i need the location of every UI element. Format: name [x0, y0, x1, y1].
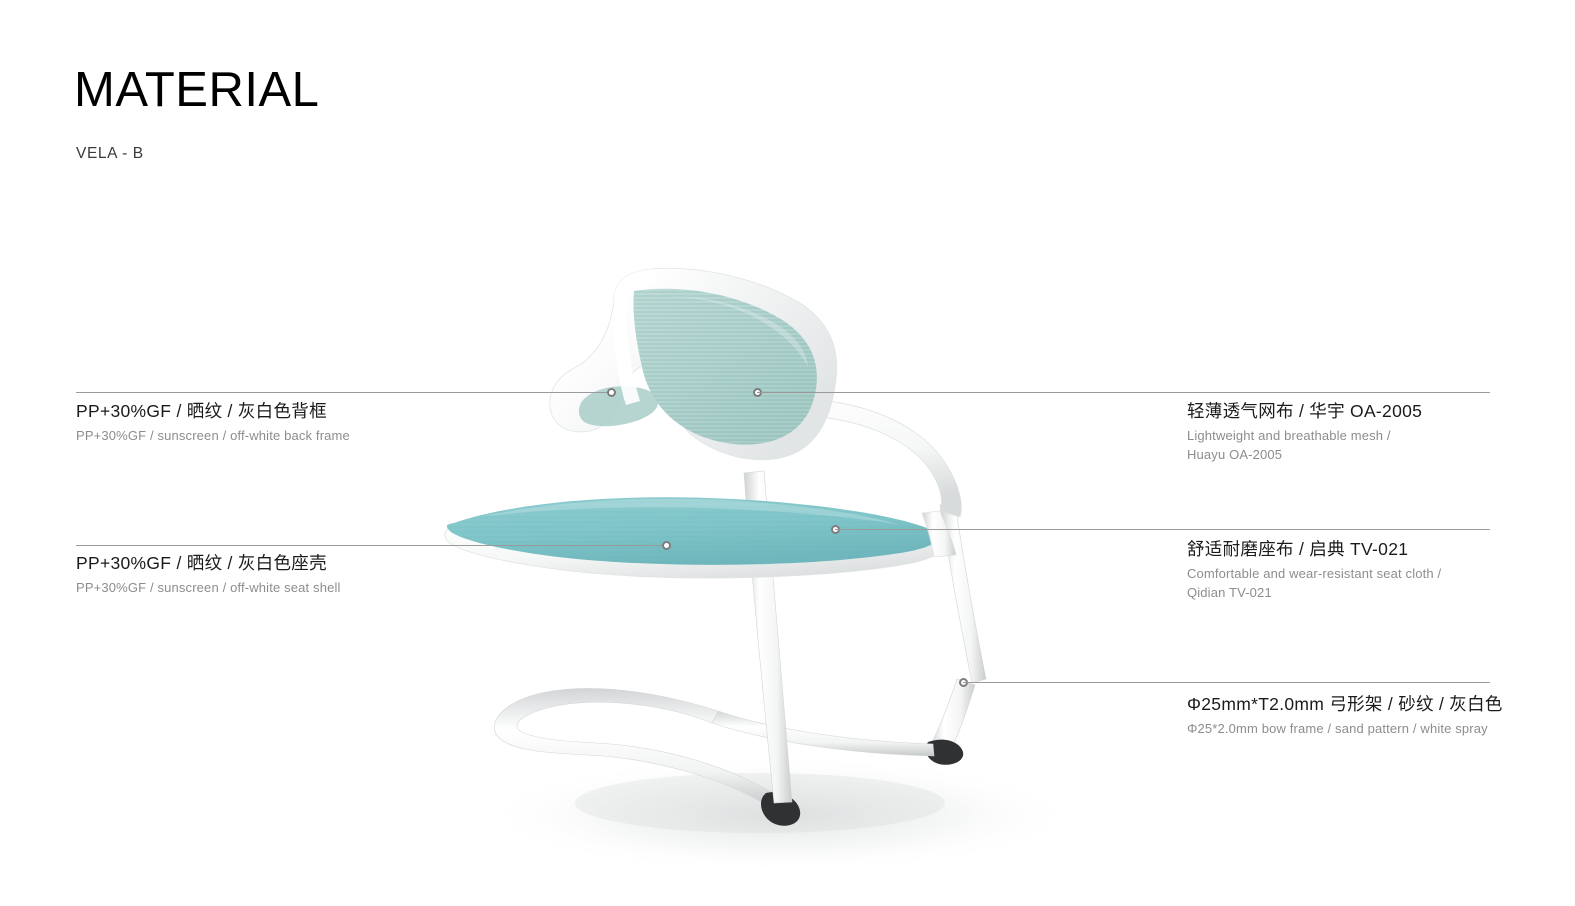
callout-back-frame-en: PP+30%GF / sunscreen / off-white back fr…	[76, 427, 350, 446]
base-cross-runner	[712, 711, 934, 756]
material-spec-page: MATERIAL VELA - B	[0, 0, 1575, 906]
callout-back-frame: PP+30%GF / 晒纹 / 灰白色背框 PP+30%GF / sunscre…	[76, 401, 350, 446]
callout-seat-cloth: 舒适耐磨座布 / 启典 TV-021 Comfortable and wear-…	[1187, 539, 1441, 603]
chair-illustration	[400, 255, 1160, 875]
leader-line-seat-cloth	[835, 529, 1490, 530]
leader-line-back-frame	[76, 392, 611, 393]
leader-dot-back-frame	[607, 388, 616, 397]
callout-bow-frame: Φ25mm*T2.0mm 弓形架 / 砂纹 / 灰白色 Φ25*2.0mm bo…	[1187, 694, 1503, 739]
leader-line-bow-frame	[963, 682, 1490, 683]
callout-seat-shell-cn: PP+30%GF / 晒纹 / 灰白色座壳	[76, 553, 341, 575]
page-subtitle: VELA - B	[76, 146, 144, 162]
callout-mesh-cn: 轻薄透气网布 / 华宇 OA-2005	[1187, 401, 1422, 423]
callout-bow-frame-cn: Φ25mm*T2.0mm 弓形架 / 砂纹 / 灰白色	[1187, 694, 1503, 716]
callout-seat-cloth-en-line-2: Qidian TV-021	[1187, 584, 1441, 603]
callout-seat-cloth-en-line-1: Comfortable and wear-resistant seat clot…	[1187, 565, 1441, 584]
leader-line-mesh	[757, 392, 1490, 393]
floor-shadow-core	[575, 773, 945, 833]
leader-line-seat-shell	[76, 545, 666, 546]
callout-back-frame-cn: PP+30%GF / 晒纹 / 灰白色背框	[76, 401, 350, 423]
callout-back-frame-en-line-1: PP+30%GF / sunscreen / off-white back fr…	[76, 427, 350, 446]
callout-seat-cloth-en: Comfortable and wear-resistant seat clot…	[1187, 565, 1441, 603]
callout-bow-frame-en: Φ25*2.0mm bow frame / sand pattern / whi…	[1187, 720, 1503, 739]
callout-seat-shell-en-line-1: PP+30%GF / sunscreen / off-white seat sh…	[76, 579, 341, 598]
leader-dot-seat-shell	[662, 541, 671, 550]
callout-mesh-en: Lightweight and breathable mesh / Huayu …	[1187, 427, 1422, 465]
callout-mesh-en-line-1: Lightweight and breathable mesh /	[1187, 427, 1422, 446]
callout-seat-shell: PP+30%GF / 晒纹 / 灰白色座壳 PP+30%GF / sunscre…	[76, 553, 341, 598]
callout-bow-frame-en-line-1: Φ25*2.0mm bow frame / sand pattern / whi…	[1187, 720, 1503, 739]
callout-mesh: 轻薄透气网布 / 华宇 OA-2005 Lightweight and brea…	[1187, 401, 1422, 465]
callout-seat-cloth-cn: 舒适耐磨座布 / 启典 TV-021	[1187, 539, 1441, 561]
callout-mesh-en-line-2: Huayu OA-2005	[1187, 446, 1422, 465]
page-title: MATERIAL	[74, 66, 319, 115]
callout-seat-shell-en: PP+30%GF / sunscreen / off-white seat sh…	[76, 579, 341, 598]
